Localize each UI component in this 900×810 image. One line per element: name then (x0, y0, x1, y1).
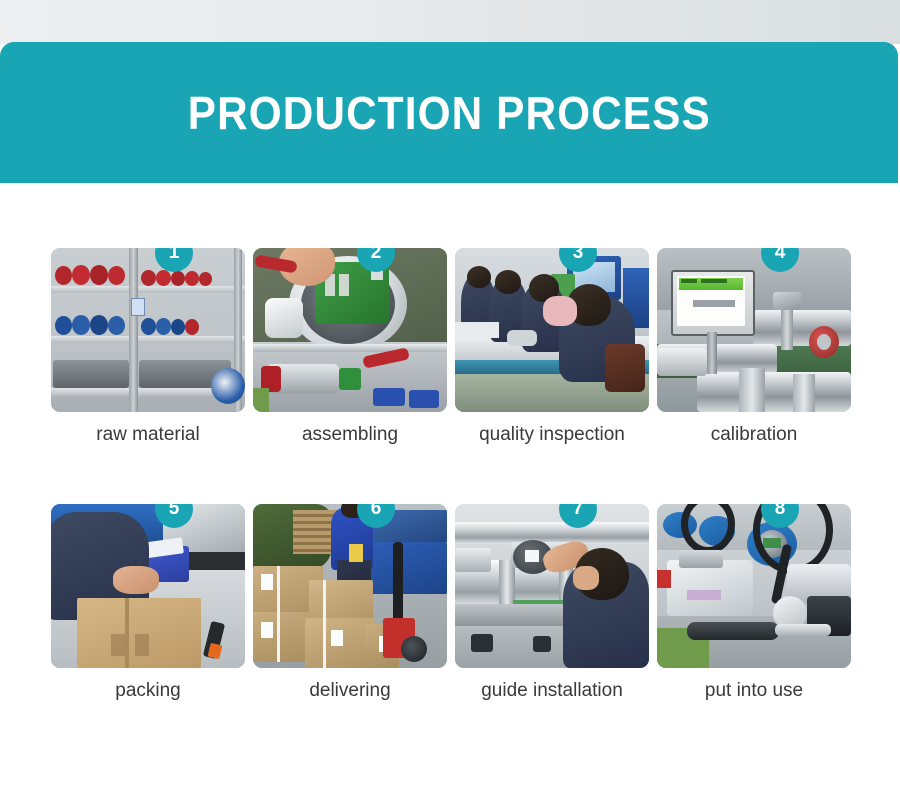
process-step-card[interactable]: 6 delivering (253, 504, 447, 702)
process-step-card[interactable]: 8 put into use (657, 504, 851, 702)
process-step-card[interactable]: 4 calibration (657, 248, 851, 446)
process-step-card[interactable]: 7 guide installation (455, 504, 649, 702)
step-label: assembling (253, 424, 447, 446)
page-title: PRODUCTION PROCESS (187, 86, 710, 140)
process-step-grid: 1 raw material (51, 248, 851, 702)
step-image-raw-material[interactable]: 1 (51, 248, 245, 412)
step-image-assembling[interactable]: 2 (253, 248, 447, 412)
process-step-card[interactable]: 2 assembling (253, 248, 447, 446)
step-image-calibration[interactable]: 4 (657, 248, 851, 412)
step-label: put into use (657, 680, 851, 702)
step-image-packing[interactable]: 5 (51, 504, 245, 668)
step-image-guide-installation[interactable]: 7 (455, 504, 649, 668)
step-label: calibration (657, 424, 851, 446)
page-banner: PRODUCTION PROCESS (0, 42, 898, 183)
page-top-strip (0, 0, 900, 44)
step-label: packing (51, 680, 245, 702)
process-step-card[interactable]: 5 packing (51, 504, 245, 702)
step-image-put-into-use[interactable]: 8 (657, 504, 851, 668)
step-label: delivering (253, 680, 447, 702)
step-label: guide installation (455, 680, 649, 702)
step-label: quality inspection (455, 424, 649, 446)
step-image-quality-inspection-card[interactable]: 3 quality inspection (455, 248, 649, 446)
process-step-card[interactable]: 1 raw material (51, 248, 245, 446)
step-label: raw material (51, 424, 245, 446)
step-image-delivering[interactable]: 6 (253, 504, 447, 668)
step-image-quality-inspection[interactable]: 3 (455, 248, 649, 412)
